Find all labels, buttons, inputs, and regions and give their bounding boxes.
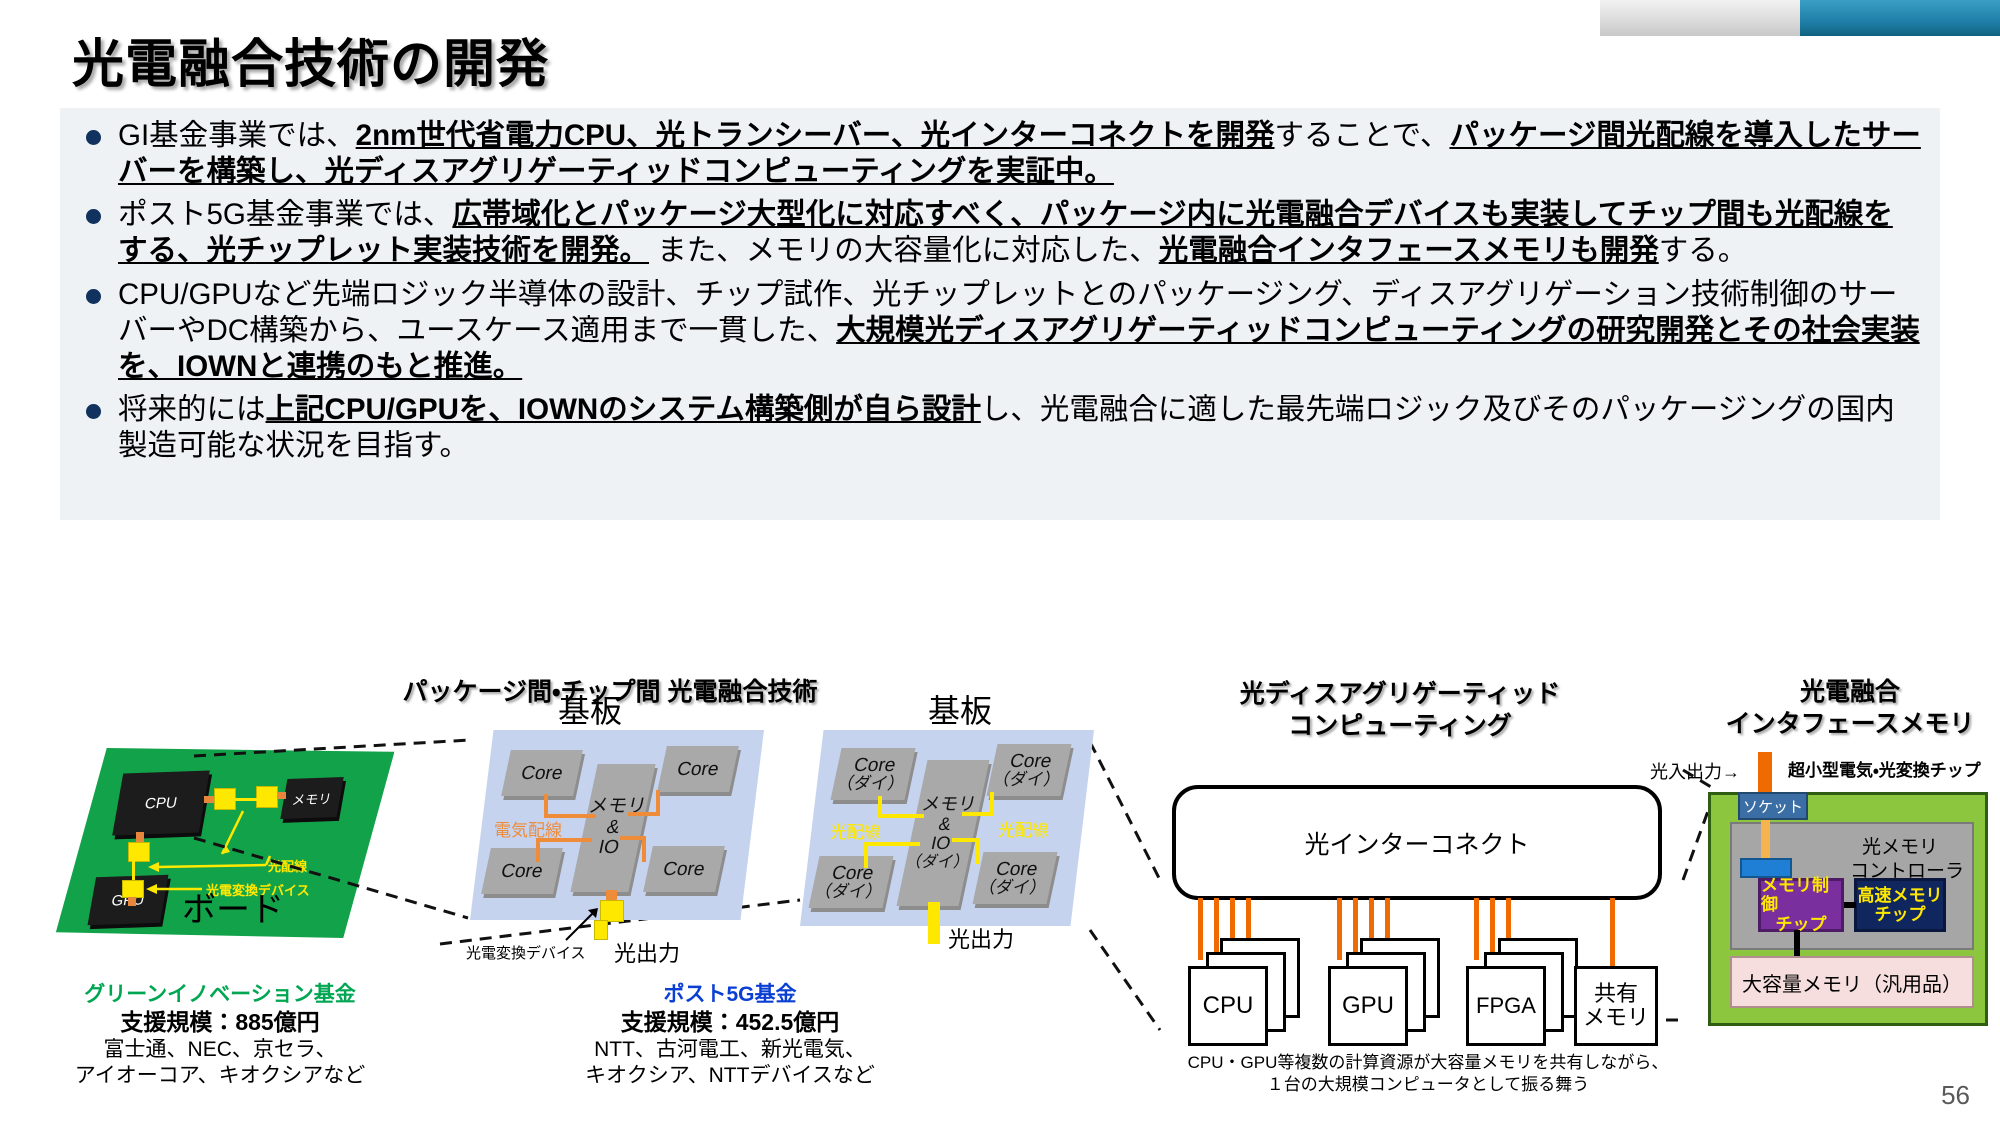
fund-members-line1: 富士通、NEC、京セラ、 (55, 1037, 385, 1063)
disaggregated-caption-line1: CPU・GPU等複数の計算資源が大容量メモリを共有しながら、 (1148, 1052, 1708, 1073)
fiber-cpu-4 (1246, 898, 1251, 940)
fund-scale: 支援規模：885億円 (55, 1008, 385, 1037)
ctrl-to-memory-link (1794, 930, 1800, 958)
figure-title-disaggregated-line2: コンピューティング (1180, 712, 1620, 741)
shared-memory-label-line1: 共有 (1594, 982, 1638, 1006)
board-label: ボード (182, 882, 284, 931)
bullet-list: GI基金事業では、2nm世代省電力CPU、光トランシーバー、光インターコネクトを… (60, 108, 1940, 464)
substrate-b-wiring-label-left: 光配線 (830, 818, 881, 843)
substrate-a-converter-label: 光電変換デバイス (466, 942, 586, 963)
bullet-item-4: 将来的には上記CPU/GPUを、IOWNのシステム構築側が自ら設計し、光電融合に… (78, 392, 1922, 464)
bullet-1-segment-1: GI基金事業では、 (118, 119, 356, 152)
memory-control-chip: メモリ制御 チップ (1758, 878, 1844, 932)
optical-wiring-label: 光配線 (268, 856, 307, 875)
substrate-b-core-bl: Core （ダイ） (808, 856, 893, 908)
gpu-node-label: GPU (1342, 993, 1394, 1019)
figure-title-interface-memory-line1: 光電融合 (1700, 678, 2000, 707)
electro-optical-conversion-chip (1740, 858, 1792, 878)
substrate-a-output-label: 光出力 (614, 936, 680, 968)
green-board-figure: CPU メモリ GPU 光配線 光電変換デバイス (70, 748, 380, 938)
substrate-b-core-br: Core （ダイ） (972, 852, 1057, 904)
bullet-2-segment-4: 光電融合インタフェースメモリも開発 (1159, 234, 1659, 267)
fund-caption-post5g: ポスト5G基金 支援規模：452.5億円 NTT、古河電工、新光電気、 キオクシ… (540, 982, 920, 1090)
disaggregated-caption-line2: １台の大規模コンピュータとして振る舞う (1148, 1074, 1708, 1095)
fiber-cpu-2 (1214, 898, 1219, 960)
substrate-b-core-tr: Core （ダイ） (986, 744, 1071, 796)
bullet-2-segment-5: する。 (1659, 234, 1748, 267)
fund-members-line2: アイオーコア、キオクシアなど (55, 1063, 385, 1089)
fund-members-line2: キオクシア、NTTデバイスなど (540, 1063, 920, 1089)
bullet-2-segment-1: ポスト5G基金事業では、 (118, 198, 452, 231)
cpu-node: CPU (1188, 966, 1268, 1046)
fiber-gpu-2 (1353, 898, 1358, 960)
substrate-b-figure: 基板 Core （ダイ） Core （ダイ） Core （ダイ） Core （ダ… (800, 730, 1100, 940)
substrate-b-title: 基板 (928, 686, 992, 732)
optical-io-fiber (1758, 752, 1772, 792)
socket-label: ソケット (1743, 796, 1803, 817)
shared-memory-label-line2: メモリ (1583, 1006, 1649, 1030)
bullet-item-1: GI基金事業では、2nm世代省電力CPU、光トランシーバー、光インターコネクトを… (78, 118, 1922, 190)
fiber-fpga-1 (1474, 898, 1479, 960)
shared-memory-node: 共有 メモリ (1574, 966, 1658, 1046)
converter-chip-label: 超小型電気・光変換チップ (1788, 756, 1981, 781)
substrate-b-core-tl: Core （ダイ） (830, 748, 915, 800)
fiber-gpu-4 (1385, 898, 1390, 940)
substrate-a-arrow (470, 730, 770, 970)
figure-title-disaggregated-line1: 光ディスアグリゲーティッド (1180, 680, 1620, 709)
fund-scale: 支援規模：452.5億円 (540, 1008, 920, 1037)
page-number: 56 (1941, 1080, 1970, 1111)
decor-bar-blue (1800, 0, 2000, 36)
fpga-node-label: FPGA (1476, 994, 1536, 1018)
page-title: 光電融合技術の開発 (72, 22, 549, 97)
fiber-fpga-2 (1490, 898, 1495, 960)
socket-to-chip-link (1761, 820, 1770, 862)
fund-members-line1: NTT、古河電工、新光電気、 (540, 1037, 920, 1063)
socket-block: ソケット (1738, 792, 1808, 820)
optical-memory-controller-label-line1: 光メモリ (1862, 832, 1938, 859)
optical-interconnect-label: 光インターコネクト (1304, 825, 1529, 861)
wire-b-8 (952, 838, 980, 842)
optical-io-label: 光入出力→ (1650, 758, 1740, 784)
bullet-1-segment-2: 2nm世代省電力CPU、光トランシーバー、光インターコネクトを開発 (356, 119, 1275, 152)
optical-interconnect-box: 光インターコネクト (1172, 785, 1662, 900)
bullet-4-segment-2: 上記CPU/GPUを、IOWNのシステム構築側が自ら設計 (266, 393, 981, 426)
substrate-b-output-label: 光出力 (948, 922, 1014, 954)
substrate-b-output-fiber (928, 902, 940, 944)
slide-root: 光電融合技術の開発 GI基金事業では、2nm世代省電力CPU、光トランシーバー、… (0, 0, 2000, 1125)
cpu-node-label: CPU (1203, 993, 1254, 1019)
gpu-node: GPU (1328, 966, 1408, 1046)
fiber-cpu-1 (1198, 898, 1203, 960)
substrate-b-wiring-label-right: 光配線 (998, 816, 1049, 841)
fiber-shared-memory (1610, 898, 1615, 968)
figure-title-interface-memory-line2: インタフェースメモリ (1700, 710, 2000, 739)
bulk-memory-label: 大容量メモリ（汎用品） (1742, 968, 1962, 997)
body-text-panel: GI基金事業では、2nm世代省電力CPU、光トランシーバー、光インターコネクトを… (60, 108, 1940, 520)
fund-name: ポスト5G基金 (540, 982, 920, 1008)
substrate-a-title: 基板 (558, 686, 622, 732)
wire-b-2 (878, 814, 924, 818)
chip-interconnect (1844, 902, 1856, 908)
fiber-gpu-1 (1337, 898, 1342, 960)
wire-b-4 (962, 812, 994, 816)
fund-name: グリーンイノベーション基金 (55, 982, 385, 1008)
fpga-node: FPGA (1466, 966, 1546, 1046)
fund-caption-green: グリーンイノベーション基金 支援規模：885億円 富士通、NEC、京セラ、 アイ… (55, 982, 385, 1090)
bullet-item-2: ポスト5G基金事業では、広帯域化とパッケージ大型化に対応すべく、パッケージ内に光… (78, 197, 1922, 269)
bullet-1-segment-3: することで、 (1275, 119, 1450, 152)
bullet-2-segment-3: また、メモリの大容量化に対応した、 (649, 234, 1159, 267)
bullet-item-3: CPU/GPUなど先端ロジック半導体の設計、チップ試作、光チップレットとのパッケ… (78, 277, 1922, 385)
bullet-4-segment-1: 将来的には (118, 393, 266, 426)
bulk-memory-block: 大容量メモリ（汎用品） (1730, 956, 1974, 1008)
fast-memory-chip: 高速メモリ チップ (1854, 878, 1946, 932)
decor-bar-grey (1600, 0, 1800, 36)
substrate-a-figure: 基板 Core Core Core Core メモリ & IO 電気配線 (470, 730, 770, 940)
